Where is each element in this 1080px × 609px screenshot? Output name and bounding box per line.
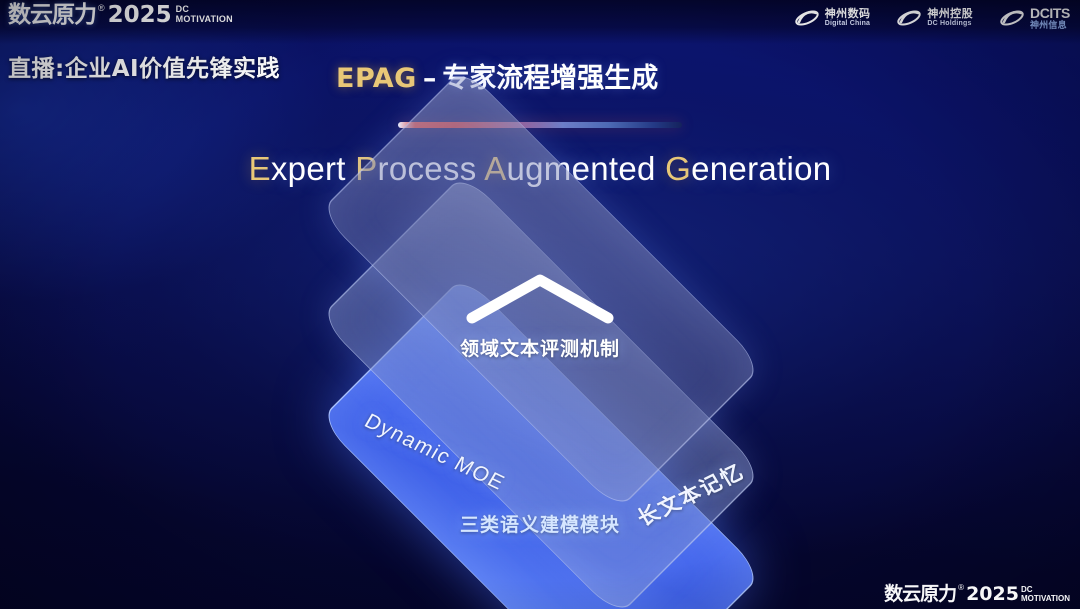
watermark-year: 2025 xyxy=(966,583,1019,605)
diagram-layer-top-label: 领域文本评测机制 xyxy=(280,334,800,361)
swirl-logo-icon xyxy=(896,7,922,29)
watermark-name-cn: 数云原力 xyxy=(884,583,956,605)
slide-canvas: 数云原力 ® 2025 DC MOTIVATION 直播:企业AI价值先锋实践 … xyxy=(0,0,1080,609)
brand-logo: 数云原力 ® 2025 DC MOTIVATION xyxy=(8,2,233,28)
subtitle-word-expert: xpert xyxy=(271,150,346,187)
brand-sublabel: DC MOTIVATION xyxy=(176,4,233,24)
subtitle-word-generation: eneration xyxy=(691,150,831,187)
partner-logo-digital-china: 神州数码 Digital China xyxy=(794,7,871,29)
chevron-up-icon xyxy=(462,270,618,326)
layered-architecture-diagram: 领域文本评测机制 Dynamic MOE 长文本记忆 三类语义建模模块 xyxy=(280,222,800,582)
partner-name-en: Digital China xyxy=(825,20,871,27)
partner-name-en: DC Holdings xyxy=(927,20,973,27)
swirl-logo-icon xyxy=(999,7,1025,29)
partner-logo-text: DCITS 神州信息 xyxy=(1030,6,1070,30)
watermark-sub-line2: MOTIVATION xyxy=(1021,594,1070,603)
title-dash: – xyxy=(417,63,443,94)
partner-logo-dcits: DCITS 神州信息 xyxy=(999,6,1070,30)
diagram-layer-bottom-label: 三类语义建模模块 xyxy=(280,510,800,537)
partner-name-cn: 神州控股 xyxy=(927,9,973,21)
partner-logo-text: 神州控股 DC Holdings xyxy=(927,9,973,28)
partner-name-cn: 神州数码 xyxy=(825,9,871,21)
brand-year: 2025 xyxy=(108,2,172,28)
brand-registered-mark: ® xyxy=(98,2,105,14)
watermark-logo: 数云原力 ® 2025 DC MOTIVATION xyxy=(884,583,1070,605)
partner-name-en: 神州信息 xyxy=(1030,21,1070,30)
partner-logo-group: 神州数码 Digital China 神州控股 DC Holdings DCIT… xyxy=(794,6,1070,30)
live-banner-text: 直播:企业AI价值先锋实践 xyxy=(8,49,280,83)
brand-sub-line2: MOTIVATION xyxy=(176,14,233,24)
brand-sub-line1: DC xyxy=(176,4,233,14)
watermark-sub-line1: DC xyxy=(1021,585,1070,594)
partner-logo-dc-holdings: 神州控股 DC Holdings xyxy=(896,7,973,29)
partner-logo-text: 神州数码 Digital China xyxy=(825,9,871,28)
title-acronym: EPAG xyxy=(336,63,417,94)
watermark-registered-mark: ® xyxy=(958,583,964,593)
subtitle-initial-e: E xyxy=(249,150,271,187)
swirl-logo-icon xyxy=(794,7,820,29)
page-title: EPAG–专家流程增强生成 xyxy=(336,56,658,95)
subtitle-initial-g: G xyxy=(665,150,691,187)
brand-name-cn: 数云原力 xyxy=(8,2,96,28)
watermark-sublabel: DC MOTIVATION xyxy=(1021,585,1070,603)
partner-name-cn: DCITS xyxy=(1030,6,1070,21)
